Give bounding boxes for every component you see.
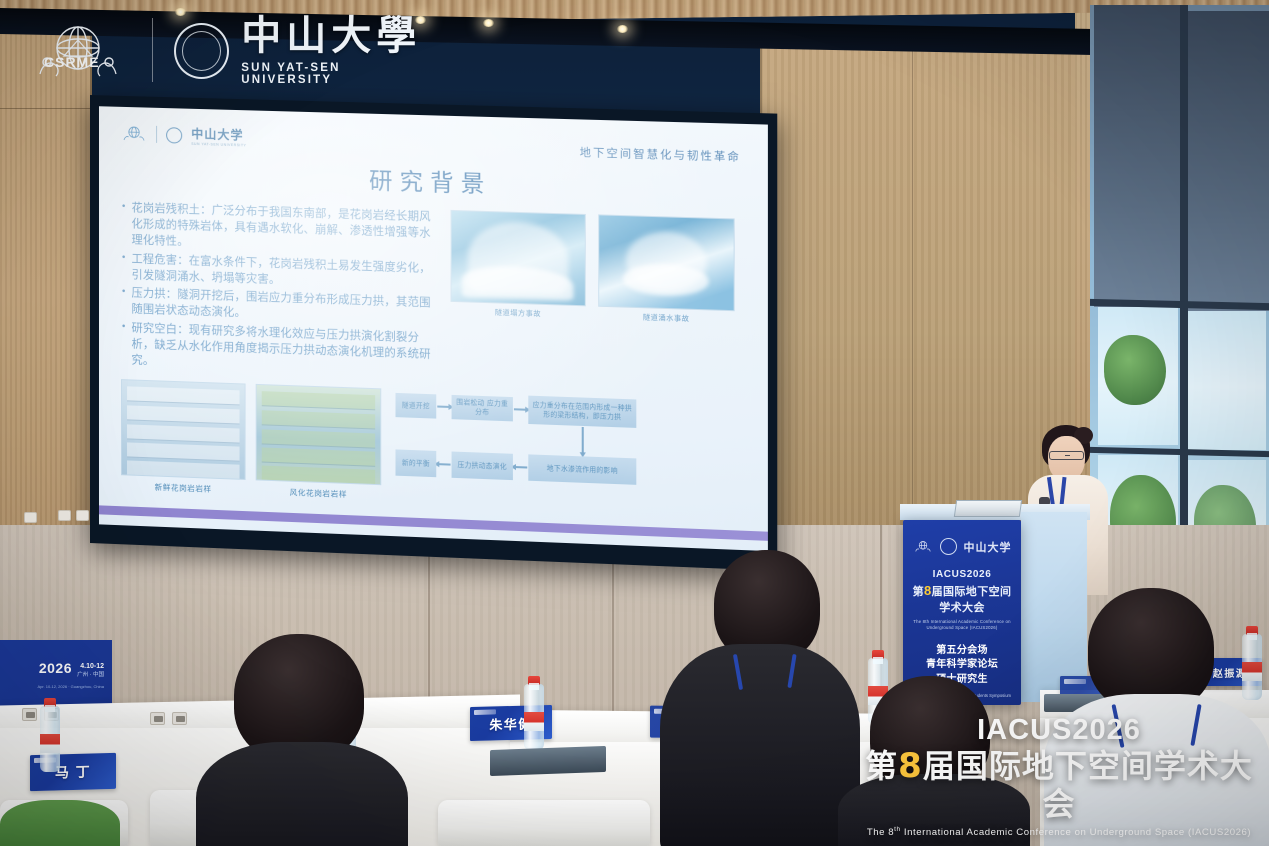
- csrme-label: CSRME: [44, 54, 100, 70]
- audience-member: [660, 550, 860, 846]
- banner-dates: 4.10-12: [80, 662, 104, 672]
- flow-node: 新的平衡: [396, 450, 437, 478]
- photo-caption: 风化花岗岩岩样: [256, 486, 382, 502]
- flowchart: 隧道开挖 围岩松动 应力重分布 应力重分布在范围内形成一种拱形的梁形结构，即压力…: [396, 391, 638, 507]
- projection-screen: 中山大学 SUN YAT-SEN UNIVERSITY 地下空间智慧化与韧性革命…: [90, 95, 777, 571]
- podium-title-cn: 第8届国际地下空间学术大会: [909, 583, 1015, 615]
- watermark-title-cn: 第8届国际地下空间学术大会: [863, 747, 1255, 823]
- watermark: IACUS2026 第8届国际地下空间学术大会 The 8th Internat…: [863, 716, 1255, 838]
- water-bottle: [524, 684, 544, 750]
- slide-header-logos: 中山大学 SUN YAT-SEN UNIVERSITY: [121, 123, 246, 148]
- wm-en-rest: International Academic Conference on Und…: [901, 827, 1251, 838]
- list-item: • 花岗岩残积土：广泛分布于我国东南部，是花岗岩经长期风化形成的特殊岩体，具有遇…: [121, 200, 436, 259]
- power-socket: [172, 712, 187, 725]
- rock-sample-fresh: 新鲜花岗岩岩样: [121, 379, 246, 496]
- wm-post: 届国际地下空间学术大会: [923, 747, 1253, 823]
- placard-name: 马 丁: [55, 761, 91, 782]
- csrme-logo-icon: [913, 540, 933, 553]
- bullet-marker: •: [121, 285, 127, 318]
- power-socket: [150, 712, 165, 725]
- bullet-marker: •: [121, 200, 127, 249]
- csrme-logo-icon: [121, 125, 147, 143]
- venue-banner-logos: CSRME 中山大學 SUN YAT-SEN UNIVERSITY: [14, 10, 434, 100]
- track-light-icon: [617, 25, 628, 33]
- flow-node: 压力拱动态演化: [452, 452, 513, 481]
- rock-sample-weathered: 风化花岗岩岩样: [256, 384, 382, 501]
- chair: [438, 800, 650, 846]
- sysu-seal-icon: [166, 127, 182, 143]
- banner-divider: [152, 18, 153, 82]
- list-item: • 研究空白：现有研究多将水理化效应与压力拱演化割裂分析，缺乏从水化作用角度揭示…: [121, 320, 436, 380]
- csrme-logo-icon: [24, 22, 132, 84]
- tunnel-photo-group: 隧道塌方事故 隧道涌水事故: [450, 210, 745, 393]
- sysu-seal-icon: [174, 23, 229, 79]
- sysu-name-cn: 中山大學: [241, 16, 434, 56]
- bullet-text: 研究空白：现有研究多将水理化效应与压力拱演化割裂分析，缺乏从水化作用角度揭示压力…: [132, 320, 437, 379]
- sysu-seal-icon: [940, 538, 957, 555]
- bullet-marker: •: [121, 251, 127, 284]
- banner-dates-cn: 广州 · 中国: [77, 672, 104, 680]
- photo-caption: 新鲜花岗岩岩样: [121, 481, 246, 497]
- wall-switch[interactable]: [58, 510, 71, 521]
- podium-sysu-cn: 中山大学: [964, 539, 1012, 555]
- bullet-text: 花岗岩残积土：广泛分布于我国东南部，是花岗岩经长期风化形成的特殊岩体，具有遇水软…: [132, 200, 437, 258]
- flow-node: 地下水渗流作用的影响: [528, 455, 636, 485]
- wm-en-prefix: The 8: [867, 827, 894, 838]
- podium-title-en: The 8th International Academic Conferenc…: [909, 619, 1015, 632]
- slide-logo-divider: [156, 126, 157, 143]
- slide-theme-text: 地下空间智慧化与韧性革命: [580, 144, 741, 165]
- window-wall: [1090, 5, 1269, 605]
- photo-caption: 隧道塌方事故: [450, 306, 585, 321]
- power-socket: [22, 708, 37, 721]
- banner-year: 2026: [39, 660, 72, 676]
- banner-location-en: Apr. 10-12, 2026 · Guangzhou, China: [38, 684, 105, 689]
- podium-conference-code: IACUS2026: [909, 569, 1015, 580]
- slide-sysu-cn: 中山大学: [191, 125, 246, 144]
- wm-pre: 第: [865, 747, 898, 785]
- slide-surface: 中山大学 SUN YAT-SEN UNIVERSITY 地下空间智慧化与韧性革命…: [99, 106, 768, 551]
- water-bottle: [40, 706, 60, 772]
- wall-switch[interactable]: [76, 510, 89, 521]
- watermark-code: IACUS2026: [863, 716, 1255, 745]
- slide-bullet-list: • 花岗岩残积土：广泛分布于我国东南部，是花岗岩经长期风化形成的特殊岩体，具有遇…: [121, 200, 436, 382]
- title-num: 8: [924, 583, 932, 598]
- tunnel-collapse-photo: [450, 210, 585, 306]
- audience-member: [0, 790, 120, 846]
- wall-switch[interactable]: [24, 512, 37, 523]
- conference-room-photo: CSRME 中山大學 SUN YAT-SEN UNIVERSITY: [0, 0, 1269, 846]
- track-light-icon: [483, 19, 494, 27]
- watermark-title-en: The 8th International Academic Conferenc…: [863, 826, 1255, 838]
- flow-node: 围岩松动 应力重分布: [452, 395, 513, 421]
- bullet-marker: •: [121, 320, 127, 369]
- flow-node: 应力重分布在范围内形成一种拱形的梁形结构，即压力拱: [528, 396, 636, 428]
- laptop: [954, 500, 1022, 517]
- slide-sysu-en: SUN YAT-SEN UNIVERSITY: [191, 142, 246, 148]
- title-post: 届国际地下空间学术大会: [932, 586, 1012, 614]
- audience-member: [196, 634, 406, 846]
- tablet-device: [490, 746, 606, 776]
- sysu-logo-group: 中山大學 SUN YAT-SEN UNIVERSITY: [174, 16, 434, 86]
- glasses-icon: [1049, 451, 1084, 460]
- sysu-name-en: SUN YAT-SEN UNIVERSITY: [241, 62, 434, 86]
- title-pre: 第: [913, 586, 924, 598]
- photo-caption: 隧道涌水事故: [598, 311, 734, 326]
- tunnel-water-inrush-photo: [598, 214, 734, 311]
- flow-node: 隧道开挖: [396, 393, 437, 419]
- wm-num: 8: [898, 746, 923, 786]
